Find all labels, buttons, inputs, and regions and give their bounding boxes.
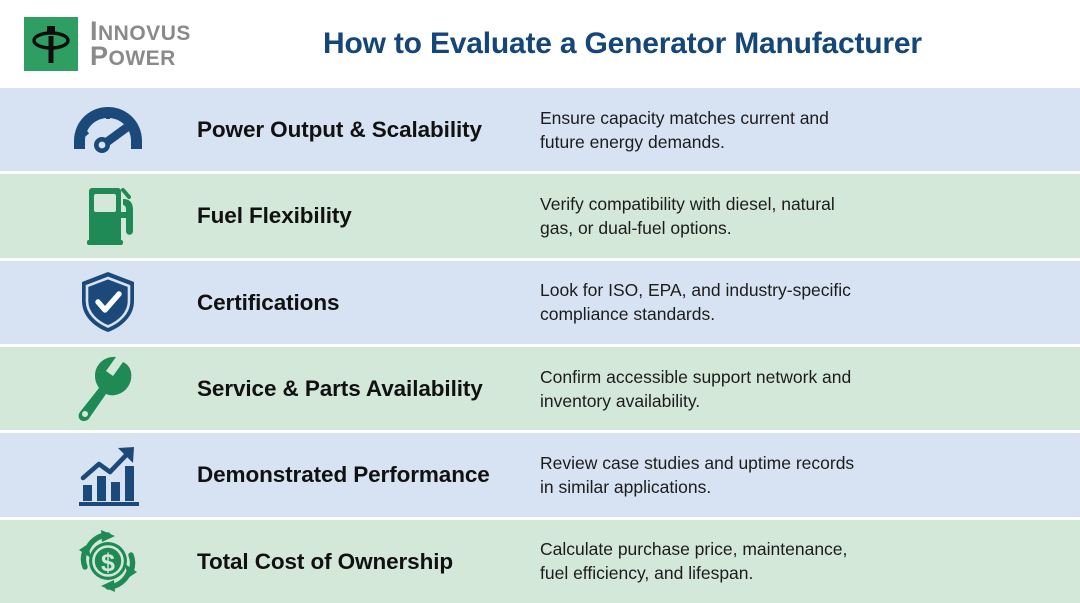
brand-line-2: POWER <box>90 44 191 69</box>
criteria-title: Total Cost of Ownership <box>154 548 540 575</box>
innovus-logo-mark-icon <box>24 17 78 71</box>
page-title: How to Evaluate a Generator Manufacturer <box>191 27 1080 61</box>
criteria-list: Power Output & Scalability Ensure capaci… <box>0 88 1080 603</box>
criteria-title: Demonstrated Performance <box>154 461 540 488</box>
brand-wordmark: INNOVUS POWER <box>90 19 191 69</box>
header: INNOVUS POWER How to Evaluate a Generato… <box>0 0 1080 88</box>
criteria-description: Calculate purchase price, maintenance, f… <box>540 537 1080 585</box>
criteria-row-fuel-flexibility: Fuel Flexibility Verify compatibility wi… <box>0 174 1080 257</box>
brand-logo: INNOVUS POWER <box>24 17 191 71</box>
criteria-description: Verify compatibility with diesel, natura… <box>540 192 1080 240</box>
criteria-title: Service & Parts Availability <box>154 375 540 402</box>
criteria-title: Fuel Flexibility <box>154 202 540 229</box>
svg-text:$: $ <box>101 549 115 577</box>
wrench-icon <box>62 356 154 422</box>
criteria-row-certifications: Certifications Look for ISO, EPA, and in… <box>0 261 1080 344</box>
criteria-row-total-cost: $ Total Cost of Ownership Calculate purc… <box>0 520 1080 603</box>
criteria-title: Certifications <box>154 289 540 316</box>
cost-cycle-dollar-icon: $ <box>62 528 154 594</box>
shield-check-icon <box>62 269 154 335</box>
criteria-row-power-output: Power Output & Scalability Ensure capaci… <box>0 88 1080 171</box>
criteria-description: Review case studies and uptime records i… <box>540 451 1080 499</box>
bar-chart-growth-icon <box>62 442 154 508</box>
criteria-description: Ensure capacity matches current and futu… <box>540 106 1080 154</box>
criteria-description: Confirm accessible support network and i… <box>540 365 1080 413</box>
criteria-description: Look for ISO, EPA, and industry-specific… <box>540 278 1080 326</box>
criteria-row-service-parts: Service & Parts Availability Confirm acc… <box>0 347 1080 430</box>
gauge-icon <box>62 99 154 161</box>
fuel-pump-icon <box>62 183 154 249</box>
infographic-root: INNOVUS POWER How to Evaluate a Generato… <box>0 0 1080 603</box>
criteria-title: Power Output & Scalability <box>154 116 540 143</box>
criteria-row-demonstrated-performance: Demonstrated Performance Review case stu… <box>0 433 1080 516</box>
